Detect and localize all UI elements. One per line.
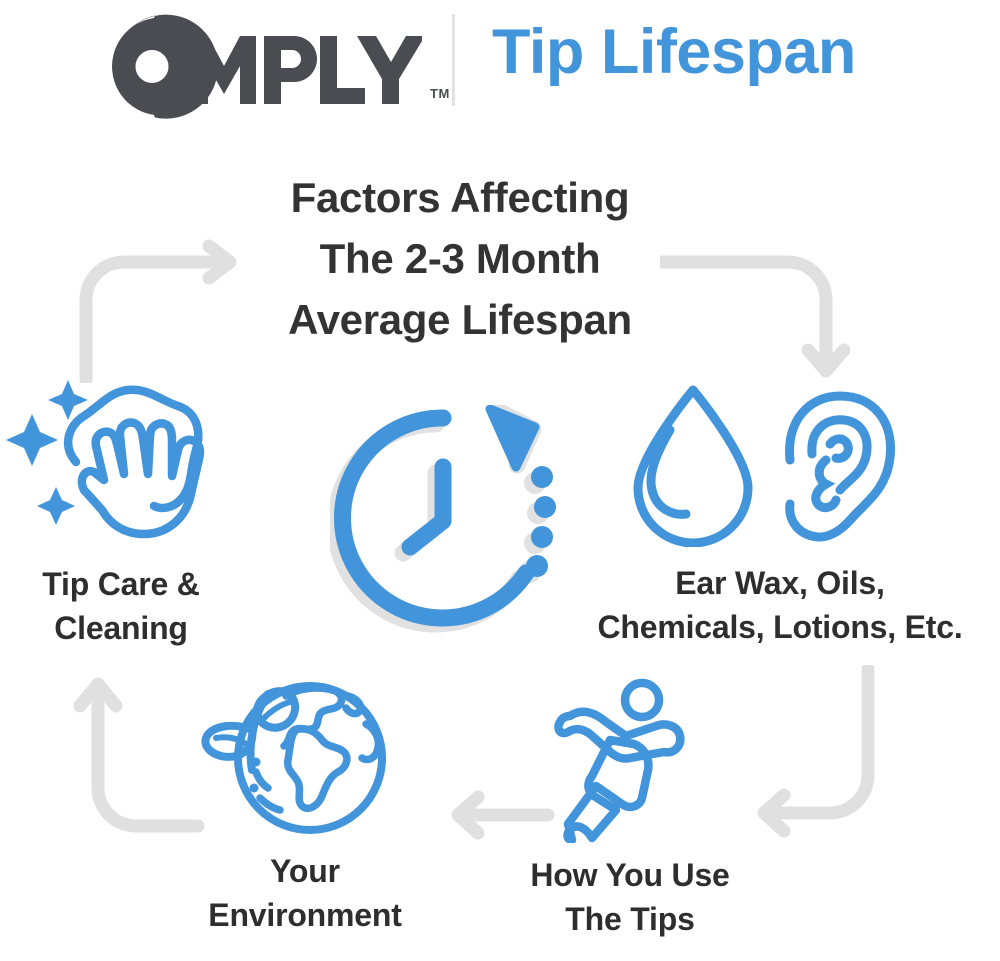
arrow-heading-to-ear [660,238,850,383]
continent-americas [288,729,347,809]
comply-logo-mark [52,14,422,119]
drop-ear-graphic [630,382,930,547]
hand-cloth-graphic [6,370,236,550]
page-title: Tip Lifespan [492,16,856,88]
person-arms [558,712,680,759]
running-person-icon [490,678,770,843]
comply-logo: TM [52,14,422,119]
node-label-line-2: The Tips [490,897,770,941]
node-label: Ear Wax, Oils, Chemicals, Lotions, Etc. [560,561,1000,649]
sparkle-large-icon [6,414,58,466]
node-label-line-1: Your [170,849,440,893]
continent-east [362,724,378,760]
globe-with-leaves-icon [170,670,440,835]
header-divider [452,14,455,106]
trademark-mark: TM [430,86,450,101]
heading-line-1: Factors Affecting [230,168,690,229]
heading-line-2: The 2-3 Month [230,229,690,290]
sparkle-small-icon [37,487,75,525]
node-label-line-2: Cleaning [0,606,246,650]
hand-cleaning-cloth-icon [0,370,246,550]
header: TM Tip Lifespan [0,0,1000,135]
clock-refresh-icon [330,405,580,635]
node-label-line-1: Tip Care & [0,562,246,606]
node-label: How You Use The Tips [490,853,770,941]
clock-refresh-graphic [330,405,580,635]
node-label: Your Environment [170,849,440,937]
leaf-lower-vein [216,737,246,744]
node-tip-care-cleaning: Tip Care & Cleaning [0,370,246,650]
globe-dot-2 [250,784,259,793]
arrow-ear-to-use [748,665,898,850]
person-head [625,683,659,717]
node-label-line-2: Chemicals, Lotions, Etc. [560,605,1000,649]
center-heading: Factors Affecting The 2-3 Month Average … [230,168,690,351]
node-label-line-2: Environment [170,893,440,937]
node-how-you-use-tips: How You Use The Tips [490,678,770,941]
water-drop-and-ear-icon [560,382,1000,547]
arrow-care-to-heading [70,238,250,383]
node-label: Tip Care & Cleaning [0,562,246,650]
running-person-graphic [530,678,730,843]
node-your-environment: Your Environment [170,670,440,937]
ear-tragus [816,460,836,508]
node-ear-wax-oils: Ear Wax, Oils, Chemicals, Lotions, Etc. [560,382,1000,649]
globe-leaves-graphic [190,670,420,835]
ear-antihelix [830,439,848,458]
heading-line-3: Average Lifespan [230,290,690,351]
infographic-page: TM Tip Lifespan Factors Affecting The 2-… [0,0,1000,961]
node-label-line-1: How You Use [490,853,770,897]
node-label-line-1: Ear Wax, Oils, [560,561,1000,605]
